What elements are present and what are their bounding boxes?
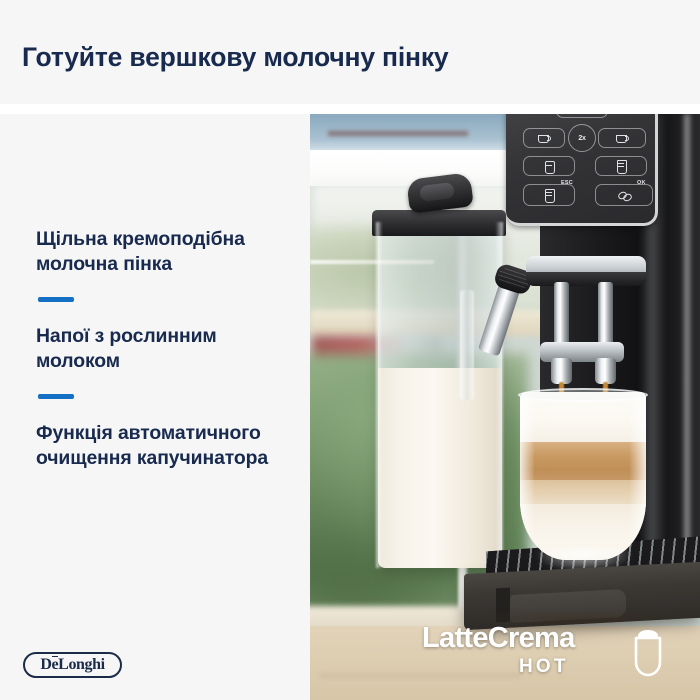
coffee-layer bbox=[520, 442, 646, 482]
foam-cup-icon bbox=[628, 624, 668, 680]
glass-left-wall bbox=[520, 392, 534, 560]
header-divider bbox=[0, 104, 700, 114]
feature-divider bbox=[38, 394, 74, 399]
milk-glass-icon bbox=[545, 189, 553, 201]
machine-edge-highlight bbox=[682, 114, 692, 584]
page-title: Готуйте вершкову молочну пінку bbox=[22, 42, 448, 73]
glass-rim bbox=[518, 388, 648, 402]
carafe-milk-fill bbox=[378, 368, 502, 568]
features-panel: Щільна кремоподібна молочна пінка Напої … bbox=[0, 114, 310, 700]
mug-key[interactable] bbox=[523, 156, 575, 176]
espresso-cup-key[interactable] bbox=[556, 114, 608, 118]
long-cup-icon bbox=[616, 134, 629, 143]
feature-text: Щільна кремоподібна молочна пінка bbox=[36, 227, 298, 278]
control-panel[interactable]: 2x ESC OK bbox=[506, 114, 658, 226]
feature-text: Напої з рослинним молоком bbox=[36, 324, 298, 375]
tall-glass-icon bbox=[617, 160, 625, 172]
small-cup-icon bbox=[538, 134, 551, 143]
delonghi-logo: DeLonghi bbox=[23, 652, 122, 678]
glass-right-wall bbox=[630, 392, 646, 560]
promo-page: Готуйте вершкову молочну пінку Щільна кр… bbox=[0, 0, 700, 700]
coffee-spout-tip bbox=[551, 358, 572, 384]
logo-letter-e-macron: e bbox=[51, 657, 58, 673]
coffee-spout-tip bbox=[595, 358, 616, 384]
long-cup-key[interactable] bbox=[598, 128, 646, 148]
feature-list: Щільна кремоподібна молочна пінка Напої … bbox=[36, 227, 298, 472]
lattecrema-badge: LatteCrema HOT bbox=[422, 624, 674, 686]
mug-icon bbox=[544, 161, 555, 172]
carafe-milk-level-line bbox=[310, 260, 434, 264]
blend-layer bbox=[520, 480, 646, 506]
delonghi-wordmark: DeLonghi bbox=[40, 657, 104, 673]
tall-glass-key[interactable] bbox=[595, 156, 647, 176]
milk-glass-key[interactable] bbox=[523, 184, 575, 206]
coffee-spout-head-shadow bbox=[526, 272, 646, 286]
feature-item-1: Щільна кремоподібна молочна пінка bbox=[36, 227, 298, 302]
carafe-lid bbox=[372, 210, 506, 236]
feature-item-2: Напої з рослинним молоком bbox=[36, 324, 298, 399]
feature-item-3: Функція автоматичного очищення капучинат… bbox=[36, 421, 298, 472]
carafe-left-edge bbox=[376, 222, 382, 568]
header-band: Готуйте вершкову молочну пінку bbox=[0, 0, 700, 104]
logo-letter-d: D bbox=[40, 656, 51, 673]
feature-text: Функція автоматичного очищення капучинат… bbox=[36, 421, 298, 472]
beans-key[interactable] bbox=[595, 184, 653, 206]
product-photo: 2x ESC OK bbox=[310, 114, 700, 700]
feature-divider bbox=[38, 297, 74, 302]
logo-letters-longhi: Longhi bbox=[58, 656, 105, 673]
window-sky-detail bbox=[328, 131, 468, 136]
latte-macchiato-glass bbox=[520, 392, 646, 572]
lattecrema-hot-label: HOT bbox=[519, 657, 569, 676]
ok-label[interactable]: OK bbox=[637, 180, 646, 186]
small-cup-key[interactable] bbox=[523, 128, 565, 148]
double-shot-button[interactable]: 2x bbox=[568, 124, 596, 152]
milk-carafe bbox=[378, 222, 502, 568]
esc-label[interactable]: ESC bbox=[561, 180, 573, 186]
lattecrema-wordmark: LatteCrema bbox=[422, 624, 575, 653]
coffee-beans-icon bbox=[618, 190, 631, 201]
glass-body bbox=[520, 392, 646, 560]
